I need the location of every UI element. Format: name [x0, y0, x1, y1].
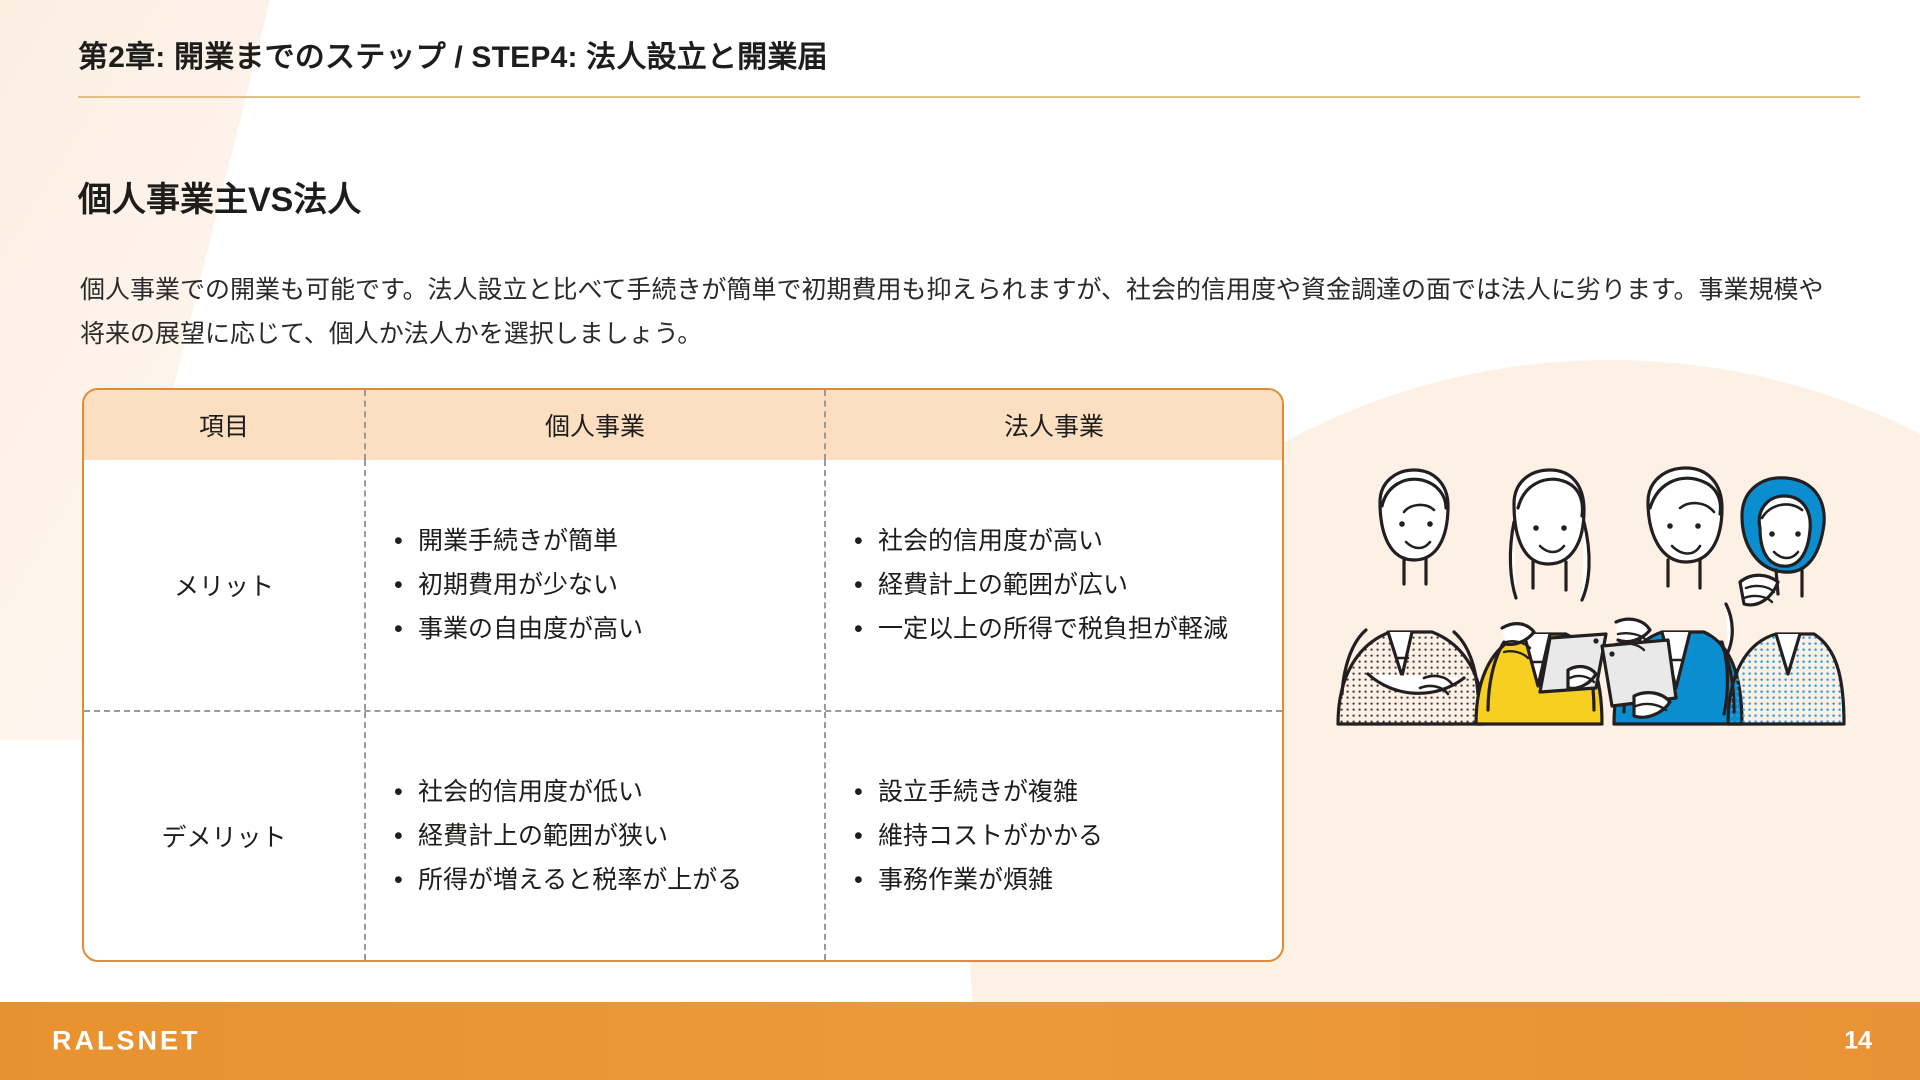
- comparison-table: 項目 個人事業 法人事業 メリット 開業手続きが簡単 初期費用が少ない 事業の自…: [82, 388, 1284, 962]
- list-item: 維持コストがかかる: [848, 814, 1103, 858]
- table-row: デメリット 社会的信用度が低い 経費計上の範囲が狭い 所得が増えると税率が上がる…: [84, 710, 1282, 960]
- bullet-list: 社会的信用度が低い 経費計上の範囲が狭い 所得が増えると税率が上がる: [388, 770, 742, 902]
- chapter-breadcrumb-title: 第2章: 開業までのステップ / STEP4: 法人設立と開業届: [78, 32, 1868, 76]
- list-item: 事業の自由度が高い: [388, 607, 643, 651]
- list-item: 所得が増えると税率が上がる: [388, 858, 742, 902]
- page-title: 個人事業主VS法人: [78, 172, 361, 221]
- bullet-list: 社会的信用度が高い 経費計上の範囲が広い 一定以上の所得で税負担が軽減: [848, 519, 1228, 651]
- table-header-row: 項目 個人事業 法人事業: [84, 390, 1282, 460]
- list-item: 経費計上の範囲が狭い: [388, 814, 742, 858]
- row-label-merit: メリット: [84, 460, 364, 710]
- column-header-corporate: 法人事業: [824, 390, 1282, 460]
- list-item: 開業手続きが簡単: [388, 519, 643, 563]
- page-number: 14: [1844, 1027, 1872, 1056]
- intro-paragraph: 個人事業での開業も可能です。法人設立と比べて手続きが簡単で初期費用も抑えられます…: [80, 268, 1840, 356]
- header-divider: [78, 96, 1860, 98]
- demerit-personal-cell: 社会的信用度が低い 経費計上の範囲が狭い 所得が増えると税率が上がる: [364, 712, 824, 960]
- column-header-item: 項目: [84, 390, 364, 460]
- slide-root: 第2章: 開業までのステップ / STEP4: 法人設立と開業届 個人事業主VS…: [0, 0, 1920, 1080]
- list-item: 社会的信用度が低い: [388, 770, 742, 814]
- list-item: 一定以上の所得で税負担が軽減: [848, 607, 1228, 651]
- demerit-corporate-cell: 設立手続きが複雑 維持コストがかかる 事務作業が煩雑: [824, 712, 1282, 960]
- slide-footer: RALSNET 14: [0, 1002, 1920, 1080]
- column-header-personal: 個人事業: [364, 390, 824, 460]
- merit-personal-cell: 開業手続きが簡単 初期費用が少ない 事業の自由度が高い: [364, 460, 824, 710]
- row-label-demerit: デメリット: [84, 712, 364, 960]
- list-item: 設立手続きが複雑: [848, 770, 1103, 814]
- list-item: 事務作業が煩雑: [848, 858, 1103, 902]
- list-item: 社会的信用度が高い: [848, 519, 1228, 563]
- ralsnet-logo: RALSNET: [52, 1026, 201, 1057]
- merit-corporate-cell: 社会的信用度が高い 経費計上の範囲が広い 一定以上の所得で税負担が軽減: [824, 460, 1282, 710]
- four-business-people-with-tablets-illustration: [1328, 462, 1848, 732]
- slide-header: 第2章: 開業までのステップ / STEP4: 法人設立と開業届: [78, 32, 1868, 98]
- bullet-list: 設立手続きが複雑 維持コストがかかる 事務作業が煩雑: [848, 770, 1103, 902]
- list-item: 経費計上の範囲が広い: [848, 563, 1228, 607]
- list-item: 初期費用が少ない: [388, 563, 643, 607]
- paragraph-plain-text: 個人事業での開業も可能です。法人設立と比べて手続きが簡単で初期費用も抑えられます…: [80, 276, 1699, 304]
- bullet-list: 開業手続きが簡単 初期費用が少ない 事業の自由度が高い: [388, 519, 643, 651]
- table-row: メリット 開業手続きが簡単 初期費用が少ない 事業の自由度が高い 社会的信用度が…: [84, 460, 1282, 710]
